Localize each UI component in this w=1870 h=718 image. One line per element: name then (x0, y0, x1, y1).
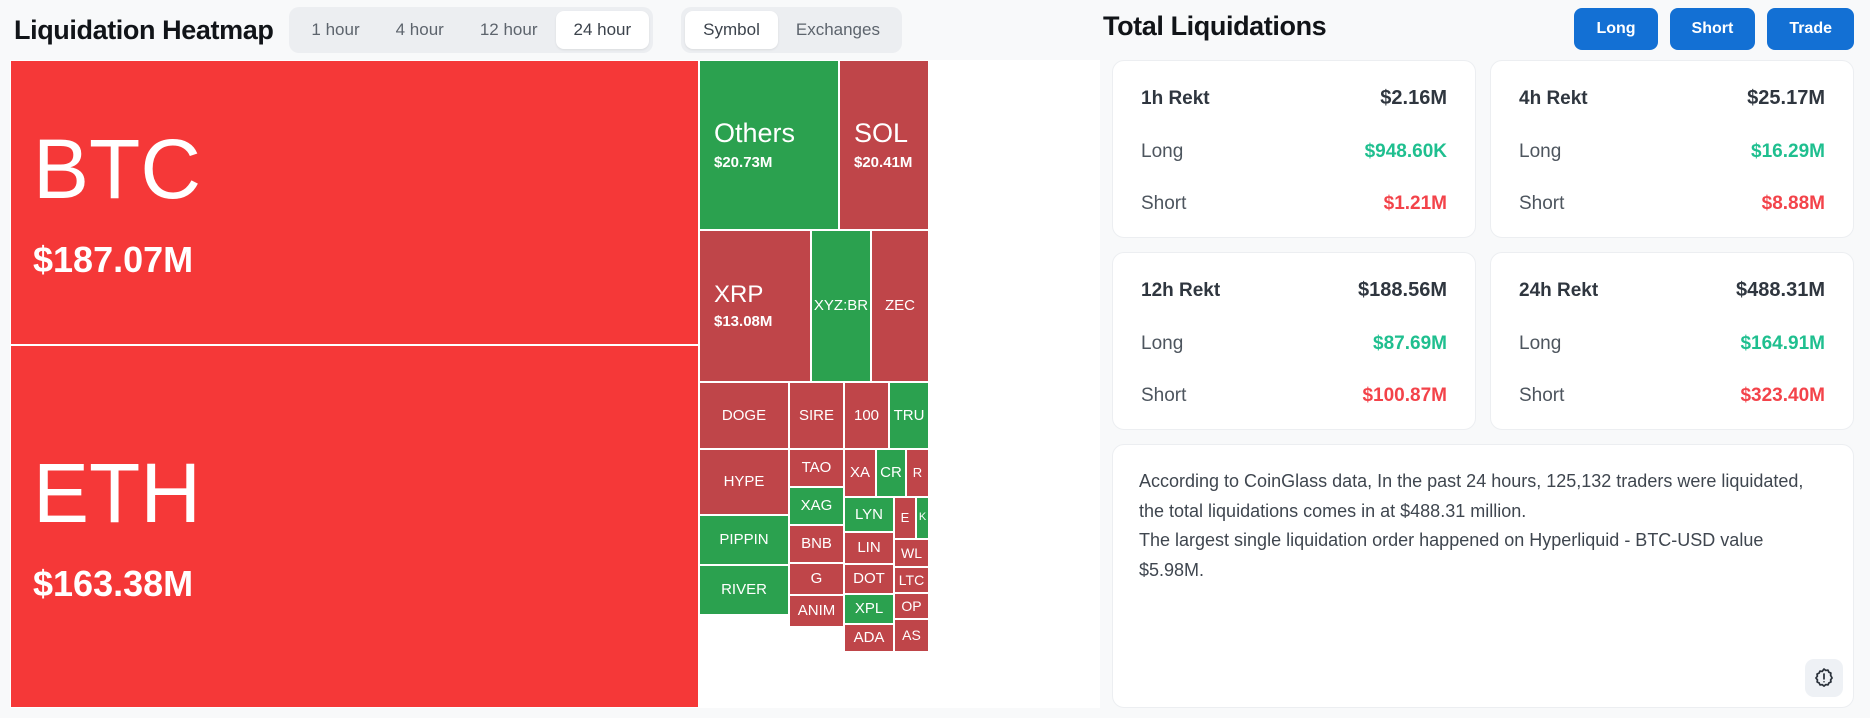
summary-line-2: The largest single liquidation order hap… (1139, 526, 1827, 585)
tile-value: $13.08M (714, 313, 810, 330)
rekt-1h-short: Short$1.21M (1141, 193, 1447, 215)
treemap-tile-k[interactable]: K (916, 497, 929, 539)
tile-symbol: BNB (801, 536, 832, 552)
tile-symbol: ZEC (885, 298, 915, 314)
tile-symbol: XRP (714, 282, 810, 307)
tile-value: $163.38M (33, 563, 698, 604)
tile-symbol: R (913, 466, 922, 480)
rekt-24h-total-value: $488.31M (1736, 279, 1825, 302)
tile-symbol: SIRE (799, 408, 834, 424)
rekt-12h-long: Long$87.69M (1141, 333, 1447, 355)
tile-symbol: TRU (894, 408, 925, 424)
rekt-4h-total: 4h Rekt$25.17M (1519, 87, 1825, 110)
rekt-24h-long-value: $164.91M (1740, 333, 1825, 355)
rekt-1h-long-label: Long (1141, 141, 1183, 163)
stats-panel: 1h Rekt$2.16MLong$948.60KShort$1.21M4h R… (1100, 60, 1870, 718)
treemap-tile-xrp[interactable]: XRP$13.08M (699, 230, 811, 382)
tile-symbol: ETH (33, 449, 698, 537)
rekt-4h-long-label: Long (1519, 141, 1561, 163)
summary-note-card: According to CoinGlass data, In the past… (1112, 444, 1854, 708)
treemap-tile-g[interactable]: G (789, 563, 844, 595)
rekt-card-1h: 1h Rekt$2.16MLong$948.60KShort$1.21M (1112, 60, 1476, 238)
tile-value: $20.41M (854, 154, 928, 171)
tile-symbol: LIN (857, 540, 880, 556)
treemap-tile-xa[interactable]: XA (844, 449, 876, 497)
tile-symbol: LTC (899, 573, 924, 588)
rekt-12h-short-value: $100.87M (1362, 385, 1447, 407)
tile-symbol: PIPPIN (719, 532, 768, 548)
tile-symbol: ANIM (798, 603, 836, 619)
badge-alert-icon[interactable] (1805, 659, 1843, 697)
badge-alert-glyph (1813, 667, 1835, 689)
app-header: Liquidation Heatmap 1 hour4 hour12 hour2… (0, 0, 1870, 60)
rekt-24h-total: 24h Rekt$488.31M (1519, 279, 1825, 302)
rekt-4h-long: Long$16.29M (1519, 141, 1825, 163)
rekt-card-12h: 12h Rekt$188.56MLong$87.69MShort$100.87M (1112, 252, 1476, 430)
rekt-24h-total-label: 24h Rekt (1519, 280, 1598, 302)
tile-symbol: AS (902, 628, 921, 643)
treemap-tile-as[interactable]: AS (894, 619, 929, 652)
treemap-tile-100[interactable]: 100 (844, 382, 889, 449)
rekt-stat-grid: 1h Rekt$2.16MLong$948.60KShort$1.21M4h R… (1112, 60, 1854, 430)
tile-symbol: XA (850, 465, 870, 481)
timeframe-option-24-hour[interactable]: 24 hour (556, 11, 650, 49)
treemap-tile-others[interactable]: Others$20.73M (699, 60, 839, 230)
rekt-1h-long-value: $948.60K (1365, 141, 1447, 163)
rekt-12h-long-label: Long (1141, 333, 1183, 355)
tile-symbol: LYN (855, 507, 883, 523)
treemap-tile-river[interactable]: RIVER (699, 565, 789, 615)
liquidation-treemap[interactable]: BTC$187.07METH$163.38MOthers$20.73MSOL$2… (10, 60, 1100, 708)
rekt-12h-total-label: 12h Rekt (1141, 280, 1220, 302)
rekt-4h-short: Short$8.88M (1519, 193, 1825, 215)
grouping-option-symbol[interactable]: Symbol (685, 11, 778, 49)
rekt-4h-total-value: $25.17M (1747, 87, 1825, 110)
total-liquidations-title: Total Liquidations (1103, 11, 1326, 42)
treemap-tile-cr[interactable]: CR (876, 449, 906, 497)
treemap-tile-lin[interactable]: LIN (844, 532, 894, 564)
grouping-segmented-control: SymbolExchanges (681, 7, 902, 53)
timeframe-option-4-hour[interactable]: 4 hour (378, 11, 462, 49)
rekt-4h-short-value: $8.88M (1762, 193, 1825, 215)
tile-symbol: DOGE (722, 408, 766, 424)
treemap-tile-xag[interactable]: XAG (789, 487, 844, 525)
rekt-24h-long-label: Long (1519, 333, 1561, 355)
tile-symbol: G (811, 571, 823, 587)
treemap-tile-anim[interactable]: ANIM (789, 595, 844, 627)
tile-symbol: XPL (855, 601, 883, 617)
treemap-tile-ltc[interactable]: LTC (894, 567, 929, 593)
rekt-12h-long-value: $87.69M (1373, 333, 1447, 355)
tile-symbol: E (901, 511, 910, 525)
rekt-12h-short-label: Short (1141, 385, 1186, 407)
treemap-tile-doge[interactable]: DOGE (699, 382, 789, 449)
rekt-1h-total-label: 1h Rekt (1141, 88, 1210, 110)
tile-symbol: TAO (802, 460, 832, 476)
tile-symbol: SOL (854, 119, 928, 147)
treemap-tile-zec[interactable]: ZEC (871, 230, 929, 382)
treemap-tile-pippin[interactable]: PIPPIN (699, 515, 789, 565)
treemap-tile-btc[interactable]: BTC$187.07M (10, 60, 699, 345)
summary-line-1: According to CoinGlass data, In the past… (1139, 467, 1827, 526)
rekt-1h-short-value: $1.21M (1384, 193, 1447, 215)
long-button[interactable]: Long (1574, 8, 1657, 50)
page-title: Liquidation Heatmap (14, 15, 273, 46)
rekt-12h-total: 12h Rekt$188.56M (1141, 279, 1447, 302)
rekt-24h-short-label: Short (1519, 385, 1564, 407)
rekt-1h-total: 1h Rekt$2.16M (1141, 87, 1447, 110)
tile-value: $187.07M (33, 239, 698, 280)
rekt-24h-long: Long$164.91M (1519, 333, 1825, 355)
tile-symbol: RIVER (721, 582, 767, 598)
short-button[interactable]: Short (1670, 8, 1756, 50)
tile-symbol: CR (880, 465, 902, 481)
header-actions: LongShortTrade (1574, 8, 1854, 50)
tile-symbol: XAG (801, 498, 833, 514)
timeframe-option-12-hour[interactable]: 12 hour (462, 11, 556, 49)
treemap-tile-lyn[interactable]: LYN (844, 497, 894, 532)
rekt-24h-short-value: $323.40M (1740, 385, 1825, 407)
timeframe-option-1-hour[interactable]: 1 hour (293, 11, 377, 49)
tile-symbol: XYZ:BR (814, 298, 868, 314)
treemap-tile-wl[interactable]: WL (894, 539, 929, 567)
rekt-card-24h: 24h Rekt$488.31MLong$164.91MShort$323.40… (1490, 252, 1854, 430)
treemap-tile-sire[interactable]: SIRE (789, 382, 844, 449)
rekt-4h-short-label: Short (1519, 193, 1564, 215)
tile-symbol: HYPE (724, 474, 765, 490)
tile-symbol: Others (714, 119, 838, 147)
main-content: BTC$187.07METH$163.38MOthers$20.73MSOL$2… (0, 60, 1870, 718)
tile-symbol: ADA (854, 630, 885, 646)
treemap-tile-eth[interactable]: ETH$163.38M (10, 345, 699, 708)
rekt-card-4h: 4h Rekt$25.17MLong$16.29MShort$8.88M (1490, 60, 1854, 238)
rekt-4h-total-label: 4h Rekt (1519, 88, 1588, 110)
rekt-24h-short: Short$323.40M (1519, 385, 1825, 407)
tile-symbol: WL (901, 546, 922, 561)
treemap-tile-hype[interactable]: HYPE (699, 449, 789, 515)
treemap-tile-dot[interactable]: DOT (844, 564, 894, 594)
treemap-tile-op[interactable]: OP (894, 593, 929, 619)
tile-value: $20.73M (714, 154, 838, 171)
tile-symbol: 100 (854, 408, 879, 424)
treemap-tile-xpl[interactable]: XPL (844, 594, 894, 624)
tile-symbol: K (919, 512, 926, 524)
treemap-tile-bnb[interactable]: BNB (789, 525, 844, 563)
treemap-tile-e[interactable]: E (894, 497, 916, 539)
rekt-12h-short: Short$100.87M (1141, 385, 1447, 407)
tile-symbol: BTC (33, 125, 698, 213)
treemap-tile-tru[interactable]: TRU (889, 382, 929, 449)
timeframe-segmented-control: 1 hour4 hour12 hour24 hour (289, 7, 653, 53)
treemap-tile-sol[interactable]: SOL$20.41M (839, 60, 929, 230)
rekt-1h-short-label: Short (1141, 193, 1186, 215)
tile-symbol: OP (901, 599, 921, 614)
grouping-option-exchanges[interactable]: Exchanges (778, 11, 898, 49)
liquidation-heatmap-app: Liquidation Heatmap 1 hour4 hour12 hour2… (0, 0, 1870, 718)
rekt-1h-total-value: $2.16M (1380, 87, 1447, 110)
trade-button[interactable]: Trade (1767, 8, 1854, 50)
tile-symbol: DOT (853, 571, 885, 587)
rekt-12h-total-value: $188.56M (1358, 279, 1447, 302)
treemap-tile-xyz-br[interactable]: XYZ:BR (811, 230, 871, 382)
treemap-tile-ada[interactable]: ADA (844, 624, 894, 652)
treemap-tile-r[interactable]: R (906, 449, 929, 497)
treemap-tile-tao[interactable]: TAO (789, 449, 844, 487)
rekt-4h-long-value: $16.29M (1751, 141, 1825, 163)
rekt-1h-long: Long$948.60K (1141, 141, 1447, 163)
